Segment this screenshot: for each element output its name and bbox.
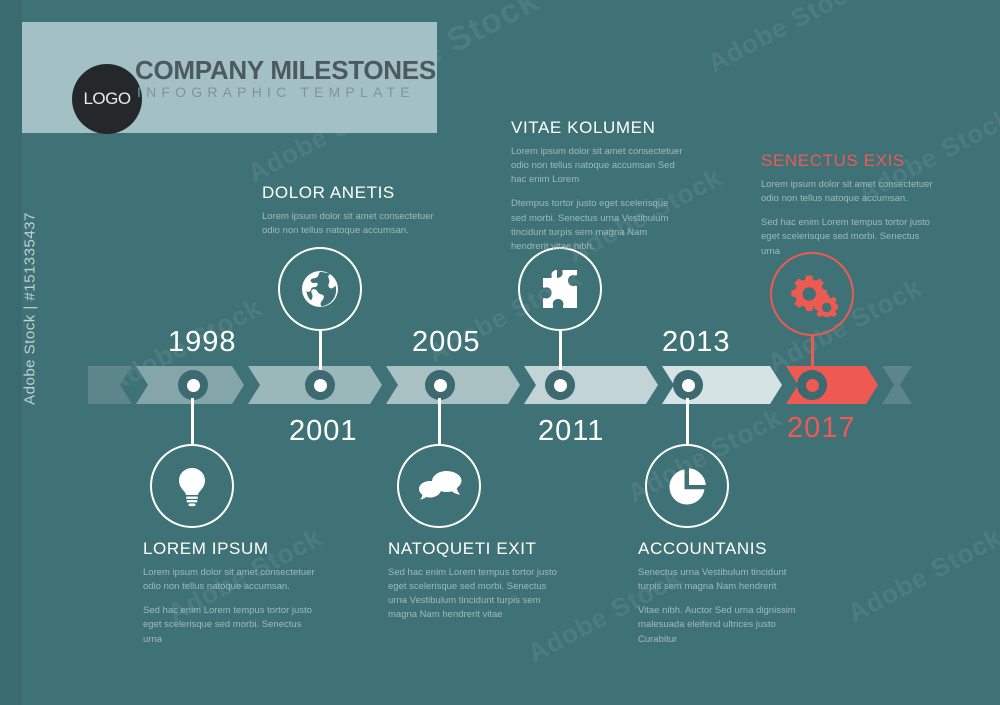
connector-stem-2017 xyxy=(811,336,814,374)
watermark-tile: Adobe Stock xyxy=(843,522,1000,629)
timeline-segment xyxy=(882,366,912,404)
speech-bubbles-icon xyxy=(414,464,464,508)
milestone-paragraph: Sed hac enim Lorem tempus tortor justo e… xyxy=(761,216,933,259)
globe-icon-circle[interactable] xyxy=(278,247,362,331)
puzzle-piece-icon xyxy=(537,266,583,312)
connector-stem-2001 xyxy=(319,331,322,373)
milestone-paragraph: Lorem ipsum dolor sit amet consectetuer … xyxy=(511,145,683,188)
milestone-text-block-2013: ACCOUNTANIS Senectus urna Vestibulum tin… xyxy=(638,540,810,657)
milestone-paragraph: Senectus urna Vestibulum tincidunt turpi… xyxy=(638,566,810,595)
lightbulb-icon xyxy=(169,463,215,509)
page-subtitle: INFOGRAPHIC TEMPLATE xyxy=(137,84,415,100)
milestone-year-2001: 2001 xyxy=(289,415,358,448)
infographic-canvas: Adobe Stock Adobe Stock Adobe Stock Adob… xyxy=(0,0,1000,705)
milestone-text-block-2011: VITAE KOLUMEN Lorem ipsum dolor sit amet… xyxy=(511,119,683,264)
milestone-paragraph: Lorem ipsum dolor sit amet consectetuer … xyxy=(761,178,933,207)
milestone-paragraph: Dtempus tortor justo eget scelerisque se… xyxy=(511,197,683,254)
milestone-title: LOREM IPSUM xyxy=(143,540,315,559)
milestone-text-block-1998: LOREM IPSUM Lorem ipsum dolor sit amet c… xyxy=(143,540,315,657)
dot-core xyxy=(314,379,327,392)
timeline-dot-2005[interactable] xyxy=(425,370,455,400)
milestone-title: SENECTUS EXIS xyxy=(761,152,933,171)
connector-stem-2005 xyxy=(438,398,441,444)
speech-bubbles-icon-circle[interactable] xyxy=(397,444,481,528)
milestone-paragraph: Lorem ipsum dolor sit amet consectetuer … xyxy=(262,210,434,239)
logo-label: LOGO xyxy=(83,89,130,109)
logo-badge: LOGO xyxy=(72,64,142,134)
timeline-dot-2001[interactable] xyxy=(305,370,335,400)
stock-watermark-rail: Adobe Stock | #151335437 xyxy=(0,0,22,705)
milestone-year-2017: 2017 xyxy=(787,412,856,445)
timeline-dot-2013[interactable] xyxy=(673,370,703,400)
milestone-paragraph: Sed hac enim Lorem tempus tortor justo e… xyxy=(388,566,560,623)
milestone-title: ACCOUNTANIS xyxy=(638,540,810,559)
gears-icon xyxy=(786,271,838,317)
lightbulb-icon-circle[interactable] xyxy=(150,444,234,528)
dot-core xyxy=(682,379,695,392)
dot-core xyxy=(554,379,567,392)
milestone-paragraph: Sed hac enim Lorem tempus tortor justo e… xyxy=(143,604,315,647)
pie-chart-icon xyxy=(664,463,710,509)
milestone-year-2011: 2011 xyxy=(538,415,604,448)
connector-stem-2013 xyxy=(686,398,689,444)
connector-stem-1998 xyxy=(191,398,194,444)
dot-core xyxy=(434,379,447,392)
watermark-tile: Adobe Stock xyxy=(703,0,868,79)
timeline-dot-2017[interactable] xyxy=(797,370,827,400)
milestone-title: DOLOR ANETIS xyxy=(262,184,434,203)
connector-stem-2011 xyxy=(559,331,562,373)
milestone-year-1998: 1998 xyxy=(168,326,237,359)
milestone-year-2013: 2013 xyxy=(662,326,731,359)
milestone-paragraph: Vitae nibh. Auctor Sed urna dignissim ma… xyxy=(638,604,810,647)
timeline-dot-2011[interactable] xyxy=(545,370,575,400)
timeline-dot-1998[interactable] xyxy=(178,370,208,400)
globe-icon xyxy=(296,265,344,313)
dot-core xyxy=(187,379,200,392)
milestone-text-block-2001: DOLOR ANETIS Lorem ipsum dolor sit amet … xyxy=(262,184,434,248)
stock-id-label: Adobe Stock | #151335437 xyxy=(22,179,39,439)
pie-chart-icon-circle[interactable] xyxy=(645,444,729,528)
milestone-text-block-2017: SENECTUS EXIS Lorem ipsum dolor sit amet… xyxy=(761,152,933,269)
milestone-title: VITAE KOLUMEN xyxy=(511,119,683,138)
timeline-segment xyxy=(88,366,132,404)
milestone-title: NATOQUETI EXIT xyxy=(388,540,560,559)
timeline-bar xyxy=(88,366,912,404)
milestone-paragraph: Lorem ipsum dolor sit amet consectetuer … xyxy=(143,566,315,595)
dot-core xyxy=(806,379,819,392)
page-title: COMPANY MILESTONES xyxy=(135,55,436,86)
milestone-year-2005: 2005 xyxy=(412,326,481,359)
milestone-text-block-2005: NATOQUETI EXIT Sed hac enim Lorem tempus… xyxy=(388,540,560,633)
